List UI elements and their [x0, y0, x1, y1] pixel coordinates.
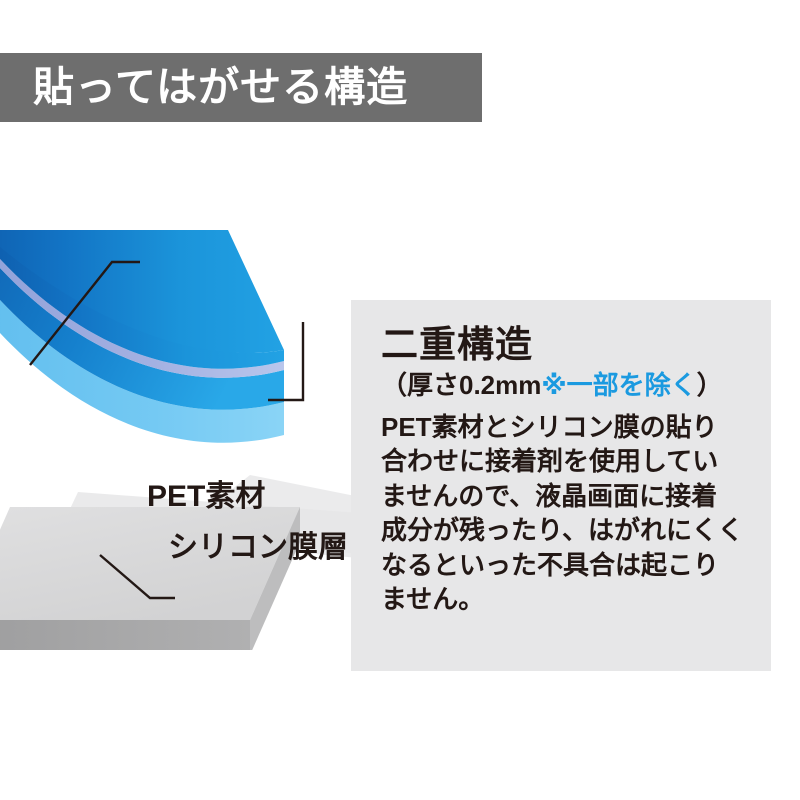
diagram-label-silicon: シリコン膜層: [168, 533, 348, 563]
layer-structure-diagram: PET素材 シリコン膜層 液晶画面: [0, 230, 400, 650]
body-line: ません。: [381, 582, 749, 617]
info-panel-heading: 二重構造: [381, 326, 749, 363]
page-title: 貼ってはがせる構造: [33, 67, 408, 108]
body-line: 合わせに接着剤を使用してい: [381, 444, 749, 479]
info-panel-body: PET素材とシリコン膜の貼り 合わせに接着剤を使用してい ませんので、液晶画面に…: [381, 410, 749, 617]
header-banner: 貼ってはがせる構造: [0, 53, 482, 122]
product-feature-illustration: 貼ってはがせる構造: [0, 0, 800, 800]
subheading-accent-note: ※一部を除く: [541, 370, 696, 400]
body-line: ませんので、液晶画面に接着: [381, 479, 749, 514]
body-line: PET素材とシリコン膜の貼り: [381, 410, 749, 445]
subheading-open-text: （厚さ0.2mm: [381, 370, 541, 400]
info-panel-subheading: （厚さ0.2mm※一部を除く）: [381, 371, 749, 400]
diagram-graphic: [0, 230, 400, 650]
body-line: なるといった不具合は起こり: [381, 548, 749, 583]
info-panel: 二重構造 （厚さ0.2mm※一部を除く） PET素材とシリコン膜の貼り 合わせに…: [351, 300, 771, 671]
subheading-close-text: ）: [697, 370, 723, 400]
diagram-label-pet: PET素材: [147, 482, 265, 512]
screen-front-face: [0, 620, 250, 650]
body-line: 成分が残ったり、はがれにくく: [381, 513, 749, 548]
